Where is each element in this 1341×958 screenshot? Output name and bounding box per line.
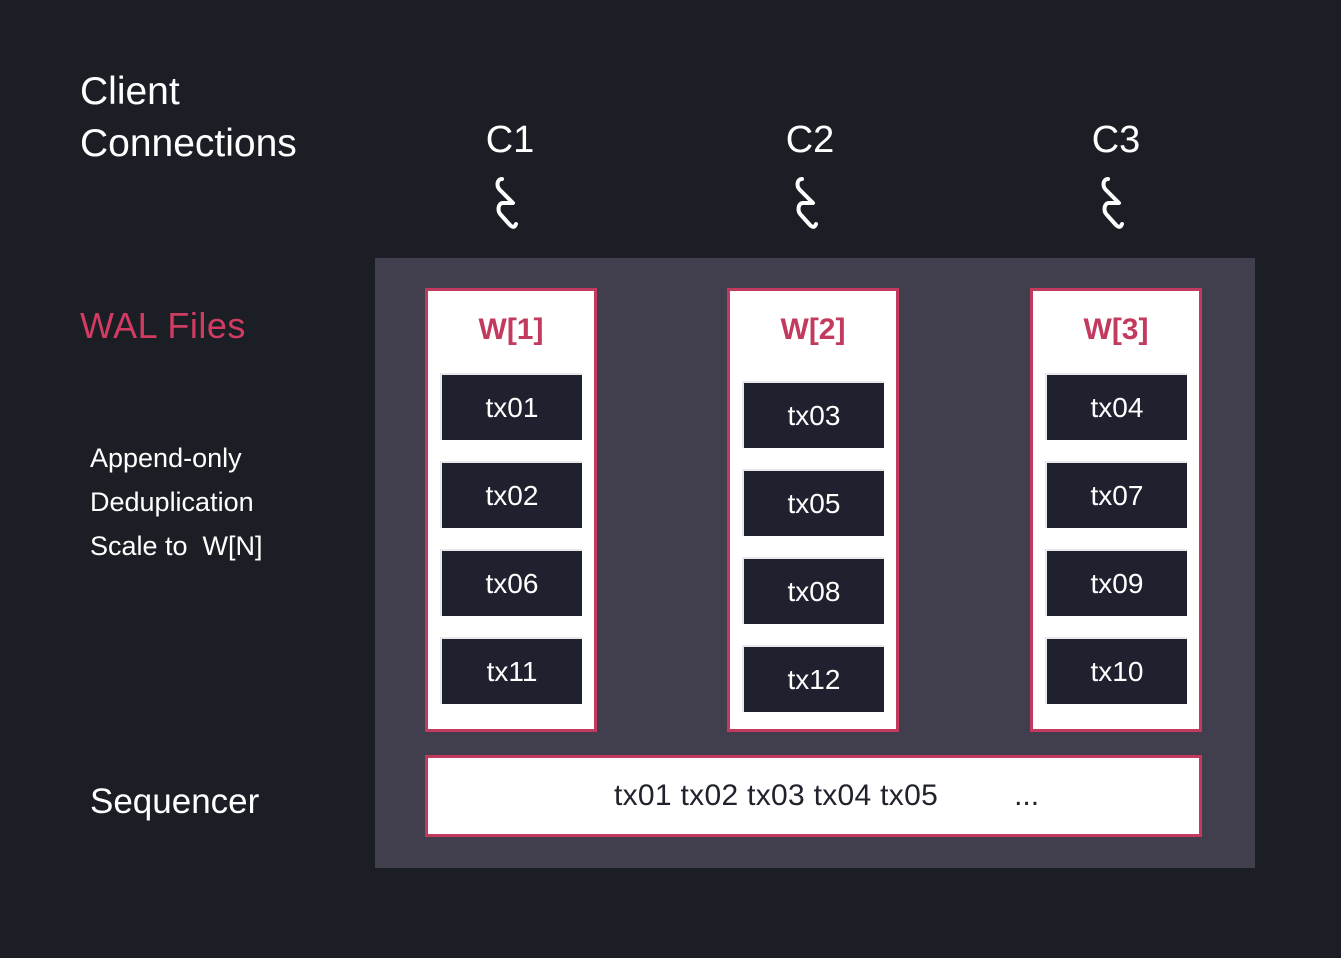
wal-file-title: W[3] — [1033, 313, 1199, 347]
transaction-list: tx03 tx05 tx08 tx12 — [742, 381, 884, 712]
transaction-list: tx04 tx07 tx09 tx10 — [1045, 373, 1187, 704]
wal-file-title: W[1] — [428, 313, 594, 347]
client-name: C2 — [740, 118, 880, 162]
sequencer-bar: tx01 tx02 tx03 tx04 tx05 ... — [425, 755, 1202, 837]
sequencer-ellipsis: ... — [1014, 779, 1039, 813]
wal-files-label: WAL Files — [80, 305, 246, 347]
wal-properties-note: Append-only Deduplication Scale to W[N] — [90, 436, 263, 568]
transaction-box: tx01 — [440, 373, 582, 440]
wal-file-card-1: W[1] tx01 tx02 tx06 tx11 — [425, 288, 597, 732]
transaction-box: tx06 — [440, 549, 582, 616]
sequencer-sequence: tx01 tx02 tx03 tx04 tx05 — [614, 779, 938, 813]
zigzag-connector-icon — [740, 174, 880, 232]
transaction-box: tx09 — [1045, 549, 1187, 616]
zigzag-connector-icon — [1046, 174, 1186, 232]
transaction-box: tx08 — [742, 557, 884, 624]
transaction-box: tx03 — [742, 381, 884, 448]
wal-panel: W[1] tx01 tx02 tx06 tx11 W[2] tx03 tx05 … — [375, 258, 1255, 868]
wal-file-card-2: W[2] tx03 tx05 tx08 tx12 — [727, 288, 899, 732]
client-connection-c3: C3 — [1046, 118, 1186, 232]
client-connection-c2: C2 — [740, 118, 880, 232]
transaction-box: tx02 — [440, 461, 582, 528]
transaction-box: tx11 — [440, 637, 582, 704]
wal-file-card-3: W[3] tx04 tx07 tx09 tx10 — [1030, 288, 1202, 732]
wal-file-title: W[2] — [730, 313, 896, 347]
client-connections-label: Client Connections — [80, 66, 360, 170]
transaction-box: tx12 — [742, 645, 884, 712]
zigzag-connector-icon — [440, 174, 580, 232]
client-name: C1 — [440, 118, 580, 162]
client-connection-c1: C1 — [440, 118, 580, 232]
transaction-box: tx04 — [1045, 373, 1187, 440]
transaction-box: tx07 — [1045, 461, 1187, 528]
client-name: C3 — [1046, 118, 1186, 162]
transaction-box: tx10 — [1045, 637, 1187, 704]
sequencer-label: Sequencer — [90, 782, 259, 822]
transaction-box: tx05 — [742, 469, 884, 536]
transaction-list: tx01 tx02 tx06 tx11 — [440, 373, 582, 704]
